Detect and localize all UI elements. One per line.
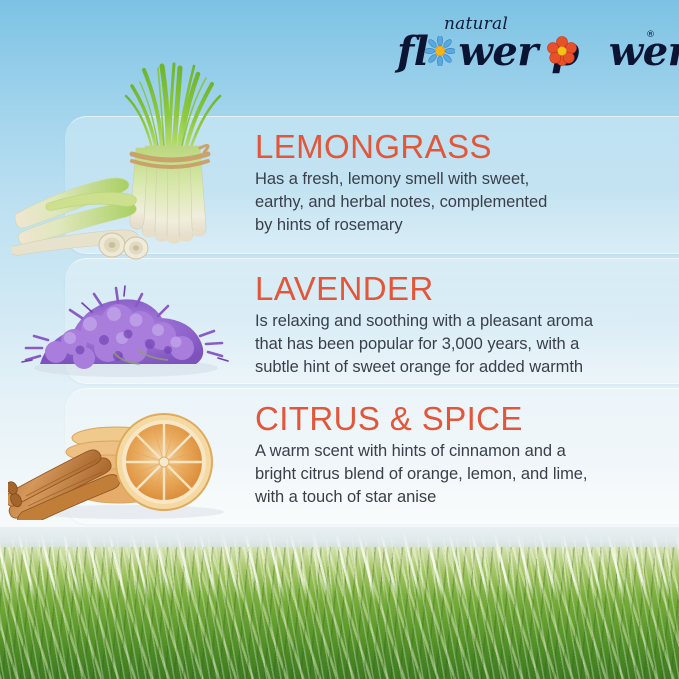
citrus-spice-photo — [8, 408, 240, 520]
scent-description: A warm scent with hints of cinnamon and … — [255, 440, 663, 509]
scent-description-line: that has been popular for 3,000 years, w… — [255, 333, 663, 356]
scent-description-line: earthy, and herbal notes, complemented — [255, 191, 663, 214]
scent-card-text: LAVENDER Is relaxing and soothing with a… — [255, 271, 663, 379]
scent-card-text: LEMONGRASS Has a fresh, lemony smell wit… — [255, 129, 663, 237]
scent-title: CITRUS & SPICE — [255, 401, 663, 437]
scent-title: LAVENDER — [255, 271, 663, 307]
scent-description-line: A warm scent with hints of cinnamon and … — [255, 440, 663, 463]
scent-description-line: with a touch of star anise — [255, 486, 663, 509]
scent-description-line: bright citrus blend of orange, lemon, an… — [255, 463, 663, 486]
scent-description: Is relaxing and soothing with a pleasant… — [255, 310, 663, 379]
lemongrass-bundle-photo — [12, 62, 242, 260]
scent-description-line: Has a fresh, lemony smell with sweet, — [255, 168, 663, 191]
scent-description-line: by hints of rosemary — [255, 214, 663, 237]
scent-card-text: CITRUS & SPICE A warm scent with hints o… — [255, 401, 663, 509]
scent-description-line: subtle hint of sweet orange for added wa… — [255, 356, 663, 379]
scent-description: Has a fresh, lemony smell with sweet, ea… — [255, 168, 663, 237]
lavender-flowers-photo — [18, 272, 233, 382]
scent-description-line: Is relaxing and soothing with a pleasant… — [255, 310, 663, 333]
scent-title: LEMONGRASS — [255, 129, 663, 165]
